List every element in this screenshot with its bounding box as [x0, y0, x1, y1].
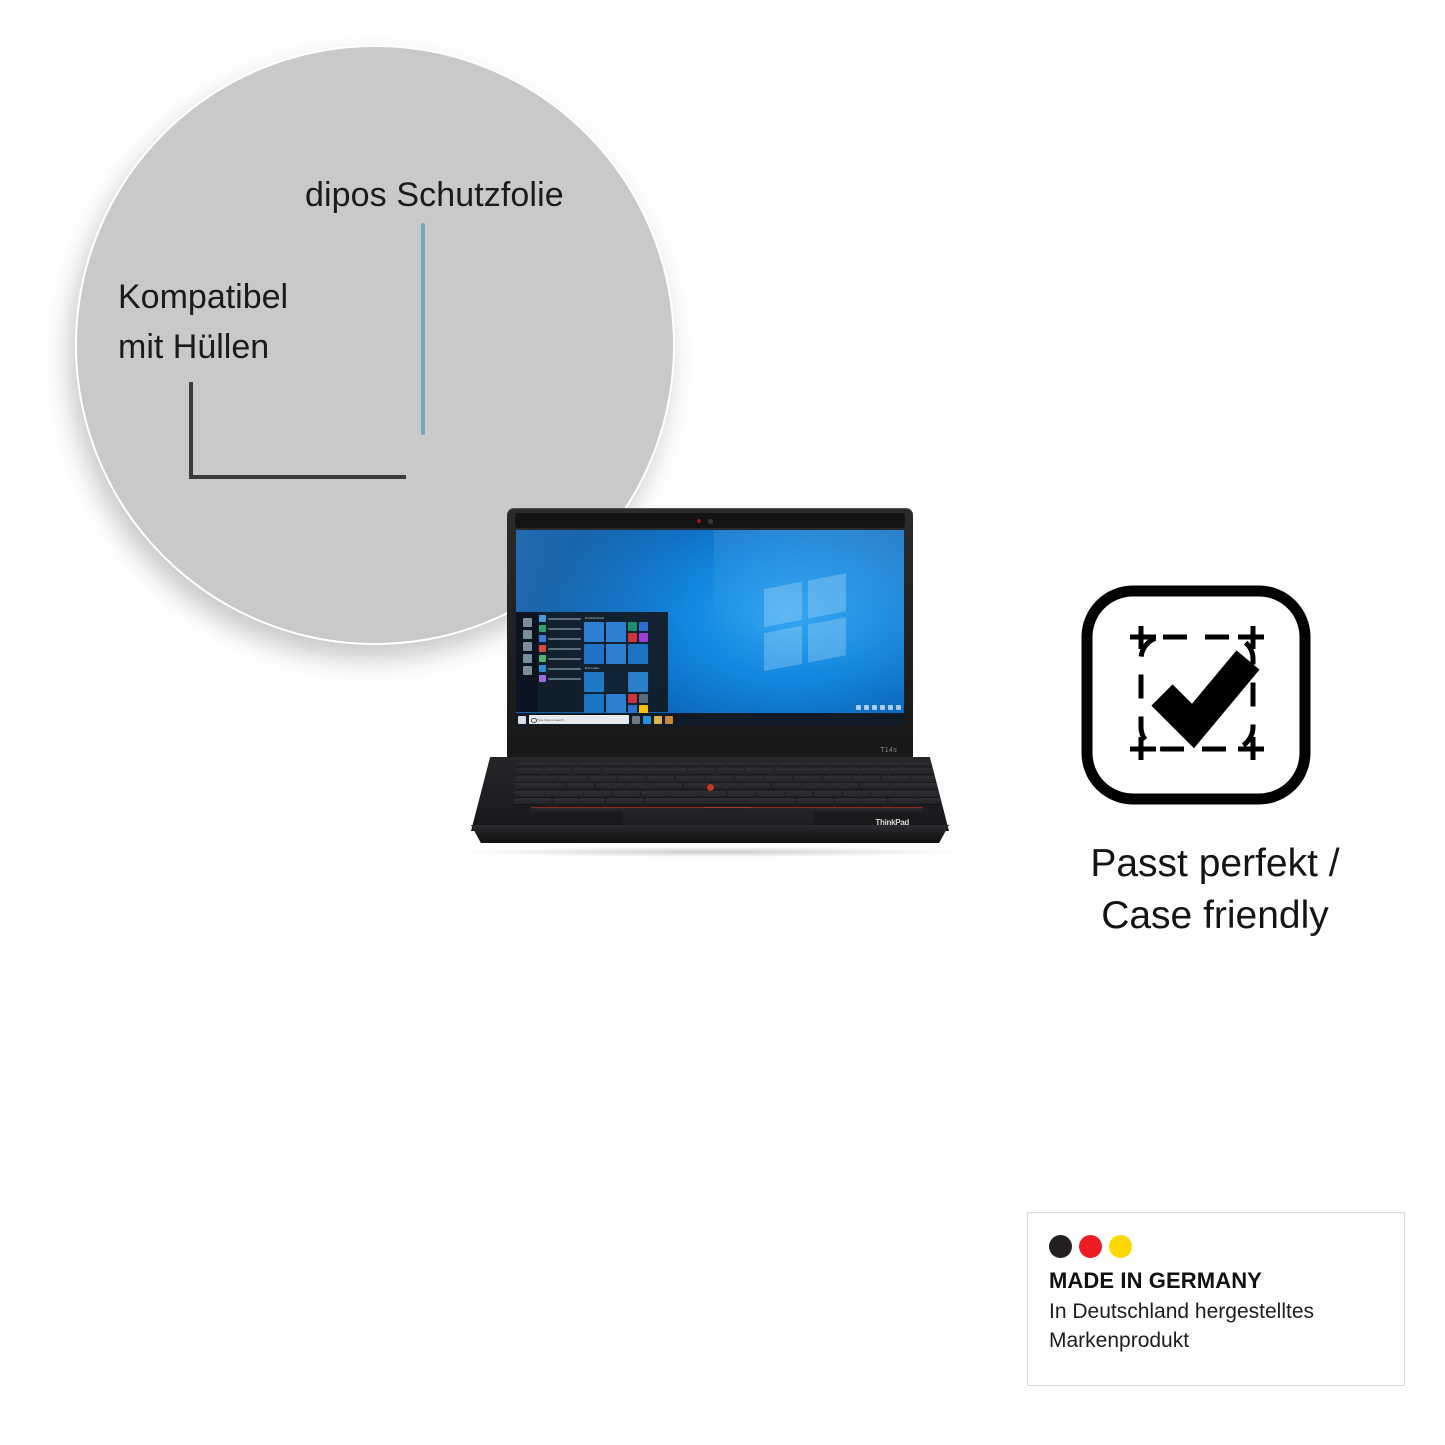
keyboard-row-numbers: [516, 768, 939, 774]
badge-subtext-line-2: Markenprodukt: [1049, 1326, 1404, 1355]
badge-subtext-line-1: In Deutschland hergestelltes: [1049, 1297, 1404, 1326]
webcam-bar: [515, 513, 905, 528]
keyboard-row-shift: [514, 791, 940, 797]
tray-chevron-icon[interactable]: [856, 705, 861, 710]
tile-powerpoint[interactable]: [628, 633, 637, 642]
tile-calendar[interactable]: [606, 622, 626, 642]
model-name-label: T14s: [880, 747, 897, 754]
keyboard-deck: ThinkPad: [471, 757, 949, 831]
app-list-item: [539, 635, 581, 642]
trackpoint-icon[interactable]: [707, 784, 714, 791]
tray-clock[interactable]: [888, 705, 893, 710]
keyboard-row-space: [514, 798, 941, 804]
start-menu-app-list[interactable]: [538, 612, 582, 712]
tray-network-icon[interactable]: [872, 705, 877, 710]
settings-gear-icon[interactable]: [523, 654, 532, 663]
flag-dot-black: [1049, 1235, 1072, 1258]
tile-onenote[interactable]: [639, 633, 648, 642]
tile-office[interactable]: [628, 694, 637, 703]
badge-subtext: In Deutschland hergestelltes Markenprodu…: [1049, 1297, 1404, 1355]
tile-snip-sketch[interactable]: [584, 694, 604, 714]
brand-product-title: dipos Schutzfolie: [305, 176, 564, 215]
tile-cluster-small-2[interactable]: [628, 694, 648, 714]
compatibility-line-1: Kompatibel: [118, 272, 288, 322]
app-list-item: [539, 615, 581, 622]
file-explorer-icon[interactable]: [654, 716, 662, 724]
flag-dot-yellow: [1109, 1235, 1132, 1258]
tile-misc[interactable]: [639, 694, 648, 703]
tile-dynamics-365[interactable]: [606, 672, 626, 692]
product-marketing-image: dipos Schutzfolie Kompatibel mit Hüllen: [0, 0, 1445, 1445]
keyboard[interactable]: [514, 762, 941, 804]
windows-start-menu[interactable]: Produktivität: [516, 612, 668, 712]
documents-icon[interactable]: [523, 630, 532, 639]
keyboard-row-qwerty: [515, 776, 939, 782]
windows-taskbar[interactable]: Type here to search: [516, 713, 904, 726]
keyboard-row-function: [516, 762, 938, 766]
tile-excel[interactable]: [628, 622, 637, 631]
tile-microsoft-edge[interactable]: [584, 644, 604, 664]
app-icon: [539, 635, 546, 642]
case-friendly-icon: [1078, 585, 1314, 811]
taskbar-search-input[interactable]: Type here to search: [529, 715, 629, 724]
edge-taskbar-icon[interactable]: [643, 716, 651, 724]
start-menu-rail[interactable]: [516, 612, 538, 712]
task-view-icon[interactable]: [632, 716, 640, 724]
rounded-square-outline-icon: [1087, 591, 1305, 799]
pictures-icon[interactable]: [523, 642, 532, 651]
flag-dot-red: [1079, 1235, 1102, 1258]
app-icon: [539, 615, 546, 622]
tile-group-label-productivity: Produktivität: [585, 616, 666, 620]
power-icon[interactable]: [523, 666, 532, 675]
app-list-item: [539, 655, 581, 662]
tile-group-label-explore: Erkunden: [585, 666, 666, 670]
compatibility-line-2: mit Hüllen: [118, 322, 288, 372]
webcam-icon: [708, 519, 713, 524]
system-tray[interactable]: [856, 705, 901, 710]
app-icon: [539, 665, 546, 672]
tray-notifications-icon[interactable]: [896, 705, 901, 710]
webcam-led-icon: [697, 519, 701, 523]
app-list-item: [539, 665, 581, 672]
start-button-icon[interactable]: [518, 716, 526, 724]
tile-windows-security[interactable]: [606, 694, 626, 714]
store-taskbar-icon[interactable]: [665, 716, 673, 724]
tile-whiteboard[interactable]: [606, 644, 626, 664]
case-friendly-caption-line-2: Case friendly: [1020, 890, 1410, 942]
tile-movies-tv[interactable]: [628, 672, 648, 692]
tile-mail[interactable]: [584, 622, 604, 642]
badge-headline: MADE IN GERMANY: [1049, 1268, 1404, 1294]
laptop-drop-shadow: [465, 847, 957, 857]
app-icon: [539, 645, 546, 652]
app-icon: [539, 625, 546, 632]
tray-onedrive-icon[interactable]: [864, 705, 869, 710]
pointer-line-vertical: [421, 223, 425, 435]
german-flag-dots-icon: [1049, 1235, 1404, 1258]
laptop-front-edge: [461, 825, 959, 843]
laptop-lid: Produktivität: [507, 508, 913, 760]
bracket-corner-marker: [189, 382, 406, 479]
app-list-item: [539, 625, 581, 632]
case-friendly-caption-line-1: Passt perfekt /: [1020, 838, 1410, 890]
laptop-screen: Produktivität: [516, 530, 904, 726]
laptop-base: ThinkPad: [455, 757, 965, 851]
keyboard-row-home: [515, 783, 940, 789]
app-icon: [539, 675, 546, 682]
tray-volume-icon[interactable]: [880, 705, 885, 710]
app-list-item: [539, 645, 581, 652]
tile-cluster-small[interactable]: [628, 622, 648, 642]
app-icon: [539, 655, 546, 662]
made-in-germany-badge: MADE IN GERMANY In Deutschland hergestel…: [1027, 1212, 1405, 1386]
compatibility-text: Kompatibel mit Hüllen: [118, 272, 288, 372]
laptop-product-photo: Produktivität: [455, 495, 965, 865]
user-icon[interactable]: [523, 618, 532, 627]
app-list-item: [539, 675, 581, 682]
tile-to-do[interactable]: [628, 644, 648, 664]
tile-microsoft-store[interactable]: [584, 672, 604, 692]
case-friendly-caption: Passt perfekt / Case friendly: [1020, 838, 1410, 942]
windows-logo-wallpaper-icon: [764, 573, 848, 673]
tile-word[interactable]: [639, 622, 648, 631]
start-menu-tiles[interactable]: Produktivität: [582, 612, 668, 712]
